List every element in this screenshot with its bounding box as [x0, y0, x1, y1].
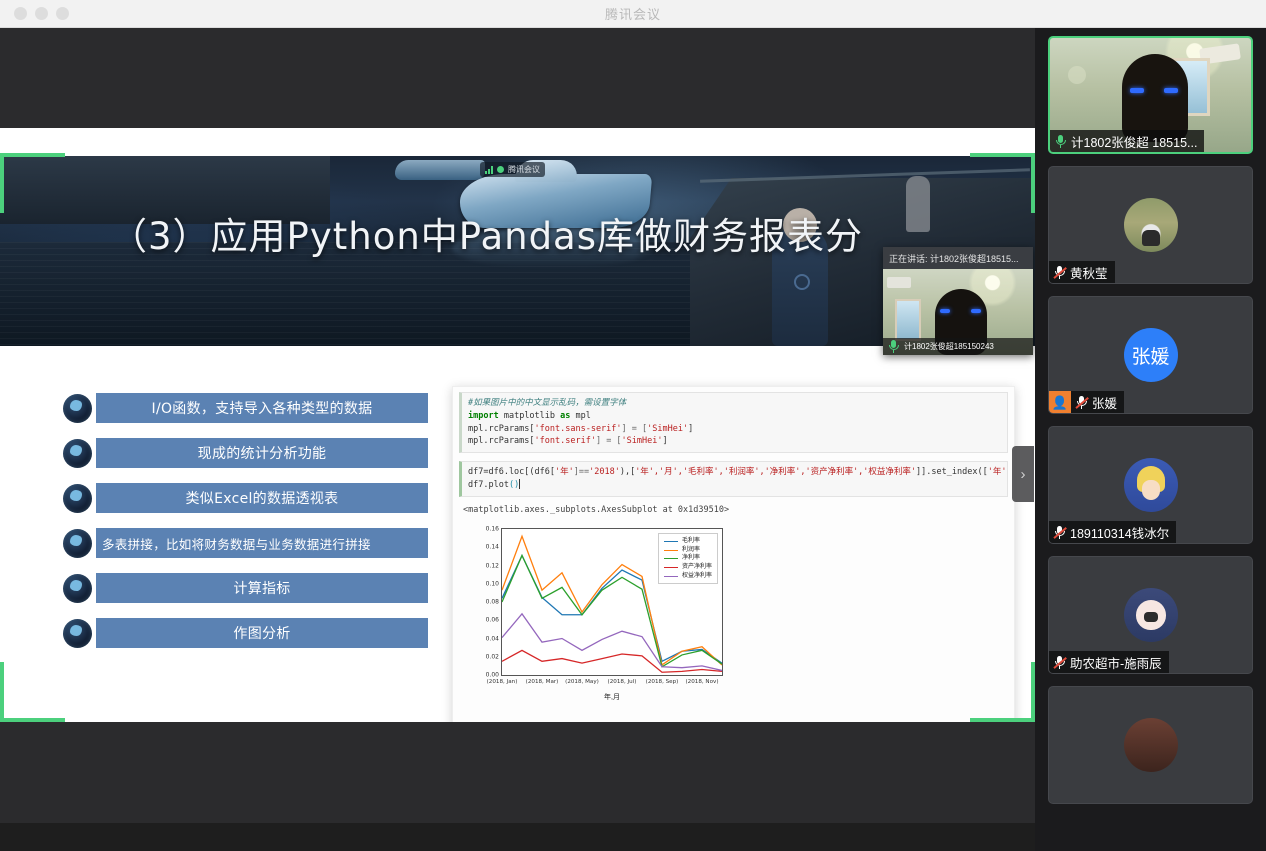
- hero-person-background: [906, 176, 930, 232]
- globe-bullet-icon: [63, 529, 92, 558]
- globe-bullet-icon: [63, 574, 92, 603]
- x-axis-tick-label: (2018, Sep): [646, 679, 679, 685]
- glasses-left-icon: [1130, 88, 1144, 93]
- legend-color-swatch: [664, 567, 678, 568]
- y-axis-tick-label: 0.12: [486, 562, 499, 569]
- room-lamp: [1068, 66, 1086, 84]
- legend-entry: 毛利率: [664, 537, 712, 546]
- code-plot-call: df7.plot: [468, 480, 509, 490]
- bullet-label: 作图分析: [96, 618, 428, 648]
- code-module: matplotlib: [504, 411, 555, 421]
- code-year-value: '2018': [589, 467, 620, 477]
- pip-speaking-caption: 正在讲话: 计1802张俊超18515...: [883, 247, 1033, 269]
- participant-name-bar: 黄秋莹: [1049, 261, 1115, 283]
- bullet-item: 计算指标: [63, 573, 428, 603]
- host-badge-icon: 👤: [1049, 391, 1071, 413]
- y-axis-tick-label: 0.08: [486, 599, 499, 606]
- hero-background-boat: [395, 160, 485, 180]
- legend-entry: 权益净利率: [664, 572, 712, 581]
- legend-entry: 利润率: [664, 546, 712, 555]
- microphone-muted-icon: [1053, 265, 1066, 280]
- avatar: [1124, 198, 1178, 252]
- avatar-initials: 张媛: [1124, 328, 1178, 382]
- share-border-right-top: [1031, 153, 1035, 213]
- bullet-label: 类似Excel的数据透视表: [96, 483, 428, 513]
- participant-tile-active[interactable]: 计1802张俊超 18515...: [1048, 36, 1253, 154]
- share-border-bottom-right: [970, 718, 1035, 722]
- code-col-year: '年': [555, 467, 574, 477]
- globe-bullet-icon: [63, 619, 92, 648]
- legend-entry: 资产净利率: [664, 563, 712, 572]
- bullet-item: 多表拼接，比如将财务数据与业务数据进行拼接: [63, 528, 428, 558]
- legend-label: 权益净利率: [682, 572, 712, 581]
- x-axis-tick-label: (2018, Jan): [487, 679, 518, 685]
- code-df-prefix: df7=df6.loc[(df6[: [468, 467, 555, 477]
- legend-color-swatch: [664, 550, 678, 551]
- share-border-right-bottom: [1031, 662, 1035, 722]
- globe-bullet-icon: [63, 439, 92, 468]
- slide-bullet-list: I/O函数，支持导入各种类型的数据 现成的统计分析功能 类似Excel的数据透视…: [63, 393, 428, 663]
- share-border-bottom-left: [0, 718, 65, 722]
- y-axis-tick-label: 0.02: [486, 653, 499, 660]
- share-border-left-top: [0, 153, 4, 213]
- app-title: 腾讯会议: [0, 4, 1266, 23]
- code-string-key: 'font.serif': [535, 436, 596, 446]
- legend-entry: 净利率: [664, 554, 712, 563]
- signal-bars-icon: [485, 166, 493, 174]
- text-cursor: [519, 479, 520, 489]
- legend-color-swatch: [664, 558, 678, 559]
- x-axis-tick-label: (2018, May): [565, 679, 599, 685]
- microphone-muted-icon: [1053, 655, 1066, 670]
- code-parens: (): [509, 480, 519, 490]
- y-axis-tick-label: 0.16: [486, 526, 499, 533]
- code-cell-2[interactable]: df7=df6.loc[(df6['年']=='2018'),['年','月',…: [459, 461, 1008, 497]
- meeting-window: 腾讯会议: [0, 0, 1266, 851]
- x-axis-tick-label: (2018, Nov): [685, 679, 718, 685]
- presentation-slide: 腾讯会议 （3）应用Python中Pandas库做财务报表分 I/O函数，支持导…: [0, 128, 1035, 722]
- speaker-pip-window[interactable]: 正在讲话: 计1802张俊超18515... 计1802张俊超185150243: [883, 247, 1033, 355]
- code-rcparams-prefix: mpl.rcParams[: [468, 436, 535, 446]
- code-string-value: 'SimHei': [622, 436, 663, 446]
- code-column-list: '年','月','毛利率','利润率','净利率','资产净利率','权益净利率…: [635, 467, 916, 477]
- hero-person-badge: [794, 274, 810, 290]
- microphone-on-icon: [887, 339, 900, 354]
- participant-tile-partial[interactable]: [1048, 686, 1253, 804]
- participant-tile[interactable]: 黄秋莹: [1048, 166, 1253, 284]
- code-string-value: 'SimHei': [647, 424, 688, 434]
- code-comment: #如果图片中的中文显示乱码，需设置字体: [468, 398, 626, 408]
- legend-label: 利润率: [682, 546, 700, 555]
- pip-eye-right: [971, 309, 981, 313]
- glasses-right-icon: [1164, 88, 1178, 93]
- participant-name: 黄秋莹: [1070, 263, 1108, 282]
- collapse-panel-button[interactable]: ›: [1012, 446, 1034, 502]
- title-bar: 腾讯会议: [0, 0, 1266, 28]
- recording-dot-icon: [497, 166, 504, 173]
- participant-name-bar: 助农超市-施雨辰: [1049, 651, 1169, 673]
- code-assign: ] = [: [596, 436, 622, 446]
- participant-head: [1122, 54, 1188, 142]
- bullet-label: 现成的统计分析功能: [96, 438, 428, 468]
- code-setindex: ]].set_index([: [916, 467, 988, 477]
- participant-name-bar: 189110314钱冰尔: [1049, 521, 1176, 543]
- globe-bullet-icon: [63, 484, 92, 513]
- participant-panel[interactable]: 计1802张俊超 18515... 黄秋莹 张媛 👤 张媛: [1035, 28, 1266, 851]
- participant-tile[interactable]: 助农超市-施雨辰: [1048, 556, 1253, 674]
- code-mid: ),[: [620, 467, 635, 477]
- microphone-on-icon: [1054, 134, 1067, 149]
- code-index-cols: '年','月': [988, 467, 1008, 477]
- globe-bullet-icon: [63, 394, 92, 423]
- bullet-item: I/O函数，支持导入各种类型的数据: [63, 393, 428, 423]
- code-string-key: 'font.sans-serif': [535, 424, 622, 434]
- bullet-item: 类似Excel的数据透视表: [63, 483, 428, 513]
- chart-plot-area: 0.000.020.040.060.080.100.120.140.16 (20…: [501, 528, 723, 676]
- legend-color-swatch: [664, 541, 678, 542]
- code-eq: ]==: [574, 467, 589, 477]
- legend-label: 毛利率: [682, 537, 700, 546]
- slide-title: （3）应用Python中Pandas库做财务报表分: [110, 206, 863, 260]
- watermark-label: 腾讯会议: [508, 164, 540, 175]
- matplotlib-figure: 0.000.020.040.060.080.100.120.140.16 (20…: [461, 522, 739, 722]
- code-bracket-end: ]: [663, 436, 668, 446]
- code-rcparams-prefix: mpl.rcParams[: [468, 424, 535, 434]
- pip-eye-left: [940, 309, 950, 313]
- participant-tile-host[interactable]: 张媛 👤 张媛: [1048, 296, 1253, 414]
- legend-label: 净利率: [682, 554, 700, 563]
- avatar: [1124, 718, 1178, 772]
- participant-name-bar: 张媛: [1071, 391, 1124, 413]
- pip-air-conditioner: [887, 277, 911, 288]
- code-alias: mpl: [576, 411, 591, 421]
- participant-name: 计1802张俊超 18515...: [1071, 132, 1197, 151]
- code-keyword-import: import: [468, 411, 499, 421]
- bullet-label: I/O函数，支持导入各种类型的数据: [96, 393, 428, 423]
- legend-color-swatch: [664, 576, 678, 577]
- bullet-label: 计算指标: [96, 573, 428, 603]
- y-axis-tick-label: 0.14: [486, 544, 499, 551]
- pip-window-frame: [895, 299, 921, 341]
- x-axis-tick-label: (2018, Jul): [608, 679, 637, 685]
- participant-name: 189110314钱冰尔: [1070, 523, 1169, 542]
- participant-name-bar: 计1802张俊超 18515...: [1050, 130, 1204, 152]
- y-axis-tick-label: 0.04: [486, 635, 499, 642]
- code-assign: ] = [: [622, 424, 648, 434]
- x-axis-tick-label: (2018, Mar): [526, 679, 559, 685]
- share-border-top-right: [970, 153, 1035, 157]
- bullet-item: 作图分析: [63, 618, 428, 648]
- shared-screen-stage: 腾讯会议 （3）应用Python中Pandas库做财务报表分 I/O函数，支持导…: [0, 28, 1035, 823]
- share-border-top-left: [0, 153, 65, 157]
- pip-participant-name: 计1802张俊超185150243: [904, 341, 994, 352]
- jupyter-notebook-screenshot: #如果图片中的中文显示乱码，需设置字体 import matplotlib as…: [452, 386, 1015, 722]
- chart-series-line: [502, 614, 722, 671]
- avatar: [1124, 458, 1178, 512]
- y-axis-tick-label: 0.00: [486, 672, 499, 679]
- participant-name: 助农超市-施雨辰: [1070, 653, 1162, 672]
- participant-name: 张媛: [1092, 393, 1117, 412]
- pip-name-bar: 计1802张俊超185150243: [883, 338, 1033, 355]
- microphone-muted-icon: [1075, 395, 1088, 410]
- y-axis-tick-label: 0.06: [486, 617, 499, 624]
- y-axis-tick-label: 0.10: [486, 580, 499, 587]
- x-axis-label: 年,月: [501, 692, 723, 702]
- pip-video-feed: 计1802张俊超185150243: [883, 269, 1033, 355]
- code-bracket-end: ]: [688, 424, 693, 434]
- meeting-watermark-badge: 腾讯会议: [480, 162, 545, 177]
- code-cell-1: #如果图片中的中文显示乱码，需设置字体 import matplotlib as…: [459, 392, 1008, 453]
- code-keyword-as: as: [560, 411, 570, 421]
- avatar: [1124, 588, 1178, 642]
- chart-legend: 毛利率利润率净利率资产净利率权益净利率: [658, 533, 718, 584]
- microphone-muted-icon: [1053, 525, 1066, 540]
- bullet-label: 多表拼接，比如将财务数据与业务数据进行拼接: [96, 528, 428, 558]
- person-icon: 👤: [1052, 396, 1068, 409]
- legend-label: 资产净利率: [682, 563, 712, 572]
- share-border-left-bottom: [0, 662, 4, 722]
- participant-tile[interactable]: 189110314钱冰尔: [1048, 426, 1253, 544]
- bullet-item: 现成的统计分析功能: [63, 438, 428, 468]
- cell-output-repr: <matplotlib.axes._subplots.AxesSubplot a…: [463, 505, 1004, 515]
